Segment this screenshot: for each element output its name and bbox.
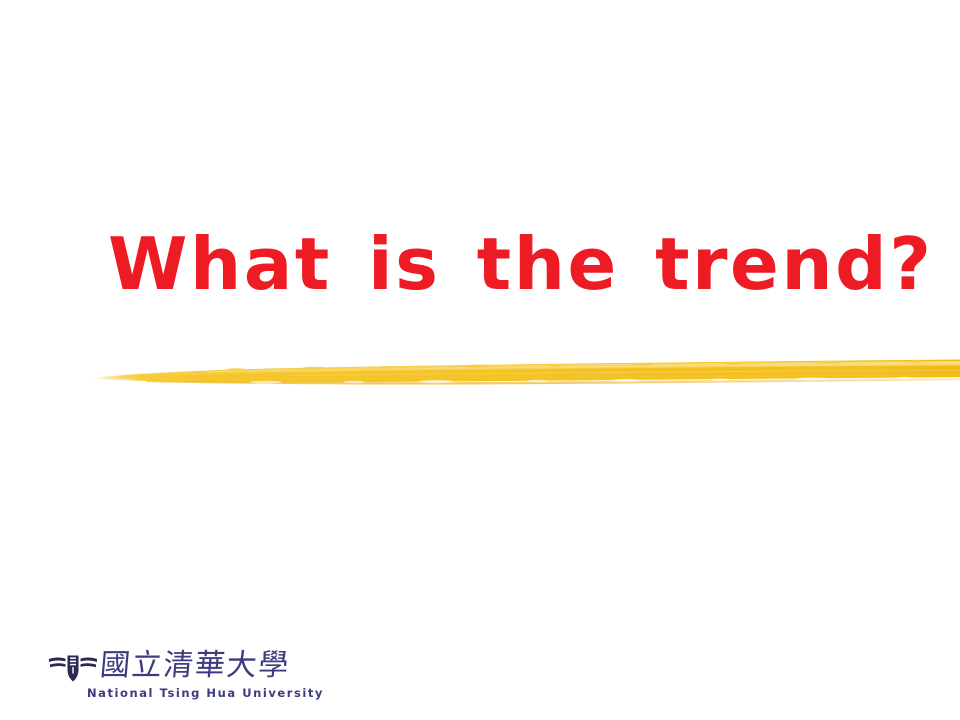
logo-chinese-name: 國立清華大學 — [98, 647, 291, 685]
logo-english-name: National Tsing Hua University — [87, 686, 324, 700]
slide-canvas: What is the trend? — [0, 0, 960, 720]
page-title: What is the trend? — [108, 228, 848, 300]
emblem-graphic — [48, 650, 98, 684]
brush-stroke-graphic — [86, 344, 960, 396]
nthu-emblem-icon — [48, 650, 98, 684]
university-logo: 國立清華大學 National Tsing Hua University — [46, 648, 326, 710]
logo-main-row: 國立清華大學 — [46, 648, 326, 688]
yellow-brush-underline — [86, 344, 960, 396]
